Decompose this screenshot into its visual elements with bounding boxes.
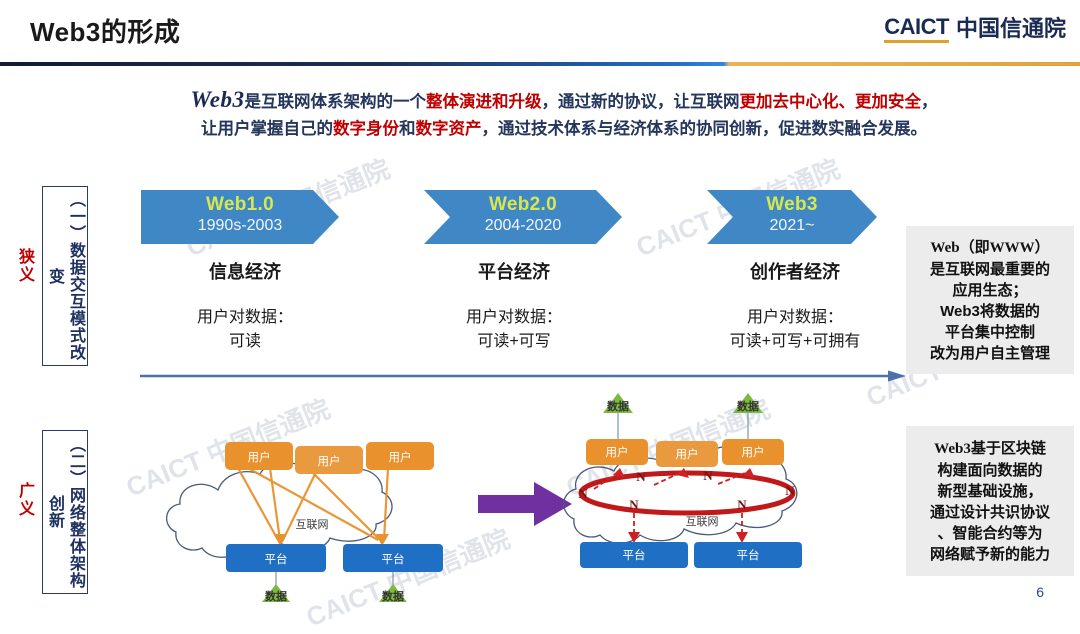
intro-seg3: ， [921, 93, 938, 111]
info-box-1-line2: 是互联网最重要的 [930, 261, 1050, 278]
user-nodes-left: 用户 用户 用户 [225, 442, 434, 474]
intro-paragraph: Web3是互联网体系架构的一个整体演进和升级，通过新的协议，让互联网更加去中心化… [64, 86, 1064, 143]
section-label-narrow: 狭义 [6, 236, 34, 296]
user-node-label: 用户 [676, 447, 699, 461]
chain-node-label: N [578, 486, 588, 501]
section-box-one: （一）数据交互模式改变 [42, 186, 88, 366]
section-box-two: （二）网络整体架构创新 [42, 430, 88, 594]
page-title: Web3的形成 [30, 12, 180, 49]
platform-node-label: 平台 [265, 552, 288, 566]
user-nodes-right: 用户 用户 用户 [586, 439, 784, 467]
data-node-label: 数据 [382, 589, 404, 603]
intro-seg4: 让用户掌握自己的 [201, 120, 333, 138]
era-1-line1: 用户对数据： [141, 306, 349, 330]
data-links-left [276, 572, 393, 586]
intro-highlight-3: 数字身份 [333, 120, 399, 138]
timeline-arrow-web1-name: Web1.0 [141, 194, 339, 216]
intro-seg1: 是互联网体系架构的一个 [244, 93, 426, 111]
timeline-arrow-web2-name: Web2.0 [424, 194, 622, 216]
data-node-label: 数据 [265, 589, 287, 603]
era-2-title: 平台经济 [410, 258, 618, 284]
data-node-label: 数据 [737, 399, 759, 413]
user-node-label: 用户 [318, 454, 341, 468]
user-node-label: 用户 [248, 450, 271, 464]
diagram-web2-architecture: 互联网 用户 用户 用户 平台 平台 [140, 420, 480, 608]
logo-en-text: CAICT [884, 16, 949, 43]
info-box-1-line3: 应用生态； [952, 282, 1027, 299]
chain-node-label: N [737, 497, 747, 512]
user-node-label: 用户 [742, 445, 765, 459]
chain-node-label: N [629, 497, 639, 512]
intro-highlight-1: 整体演进和升级 [426, 93, 542, 111]
info-box-2-line4: 通过设计共识协议 [930, 504, 1050, 521]
info-box-web3-infrastructure: Web3基于区块链 构建面向数据的 新型基础设施， 通过设计共识协议 、智能合约… [906, 426, 1074, 576]
era-3-line2: 可读+可写+可拥有 [680, 330, 910, 354]
user-node-label: 用户 [389, 450, 412, 464]
cloud-label-left: 互联网 [296, 518, 329, 531]
chain-node-label: N [785, 483, 795, 498]
info-box-web-definition: Web（即WWW） 是互联网最重要的 应用生态； Web3将数据的 平台集中控制… [906, 226, 1074, 374]
chain-node-label: N [636, 469, 646, 484]
platform-node-label: 平台 [382, 552, 405, 566]
chain-arrowhead [736, 532, 748, 543]
intro-highlight-2: 更加去中心化、更加安全 [739, 93, 921, 111]
info-box-1-line1: Web（即WWW） [930, 240, 1049, 256]
era-3-line1: 用户对数据： [680, 306, 910, 330]
intro-highlight-4: 数字资产 [416, 120, 482, 138]
platform-nodes-right: 平台 平台 [580, 542, 802, 568]
era-column-2: 平台经济 用户对数据： 可读+可写 [410, 258, 618, 354]
platform-nodes-left: 平台 平台 [226, 544, 443, 572]
era-column-1: 信息经济 用户对数据： 可读 [141, 258, 349, 354]
timeline-arrow-web1-period: 1990s-2003 [141, 217, 339, 235]
timeline-progress-arrow [140, 370, 906, 382]
blockchain-ring [581, 473, 793, 513]
timeline-arrow-web2-period: 2004-2020 [424, 217, 622, 235]
era-column-3: 创作者经济 用户对数据： 可读+可写+可拥有 [680, 258, 910, 354]
info-box-1-line6: 改为用户自主管理 [930, 345, 1050, 362]
intro-seg6: ，通过技术体系与经济体系的协同创新，促进数实融合发展。 [482, 120, 928, 138]
timeline-arrow-web3: Web3 2021~ [707, 190, 877, 244]
data-nodes-left: 数据 数据 [262, 584, 407, 603]
logo-cn-text: 中国信通院 [956, 18, 1066, 43]
intro-lead-word: Web3 [191, 87, 245, 112]
info-box-2-line3: 新型基础设施， [937, 483, 1042, 500]
intro-seg5: 和 [399, 120, 416, 138]
user-node-label: 用户 [606, 445, 629, 459]
timeline-arrow-web3-period: 2021~ [707, 217, 877, 235]
era-1-title: 信息经济 [141, 258, 349, 284]
info-box-2-line1: Web3基于区块链 [934, 441, 1046, 457]
timeline-arrow-web1: Web1.0 1990s-2003 [141, 190, 339, 244]
slide-root: CAICT 中国信通院 CAICT 中国信通院 CAICT 中国信通院 CAIC… [0, 0, 1080, 608]
section-label-broad: 广义 [6, 470, 34, 530]
era-3-title: 创作者经济 [680, 258, 910, 284]
data-links-right [618, 413, 748, 439]
era-2-line1: 用户对数据： [410, 306, 618, 330]
data-nodes-right: 数据 数据 [603, 393, 763, 413]
info-box-2-line2: 构建面向数据的 [937, 462, 1042, 479]
platform-node-label: 平台 [737, 548, 760, 562]
info-box-1-line5: 平台集中控制 [945, 324, 1035, 341]
timeline-arrow-web2: Web2.0 2004-2020 [424, 190, 622, 244]
era-1-line2: 可读 [141, 330, 349, 354]
info-box-1-line4: Web3将数据的 [940, 303, 1040, 320]
platform-node-label: 平台 [623, 548, 646, 562]
intro-seg2: ，通过新的协议，让互联网 [541, 93, 739, 111]
header-divider [0, 62, 1080, 66]
timeline-arrow-web3-name: Web3 [707, 194, 877, 216]
era-2-line2: 可读+可写 [410, 330, 618, 354]
info-box-2-line6: 网络赋予新的能力 [930, 546, 1050, 563]
page-number: 6 [1036, 584, 1044, 600]
cloud-label-right: 互联网 [686, 515, 719, 528]
chain-node-label: N [703, 468, 713, 483]
info-box-2-line5: 、智能合约等为 [937, 525, 1042, 542]
caict-logo: CAICT 中国信通院 [884, 16, 1066, 43]
data-node-label: 数据 [607, 399, 629, 413]
diagram-web3-architecture: 互联网 数据 数据 用户 用户 用户 N N N [556, 385, 906, 580]
